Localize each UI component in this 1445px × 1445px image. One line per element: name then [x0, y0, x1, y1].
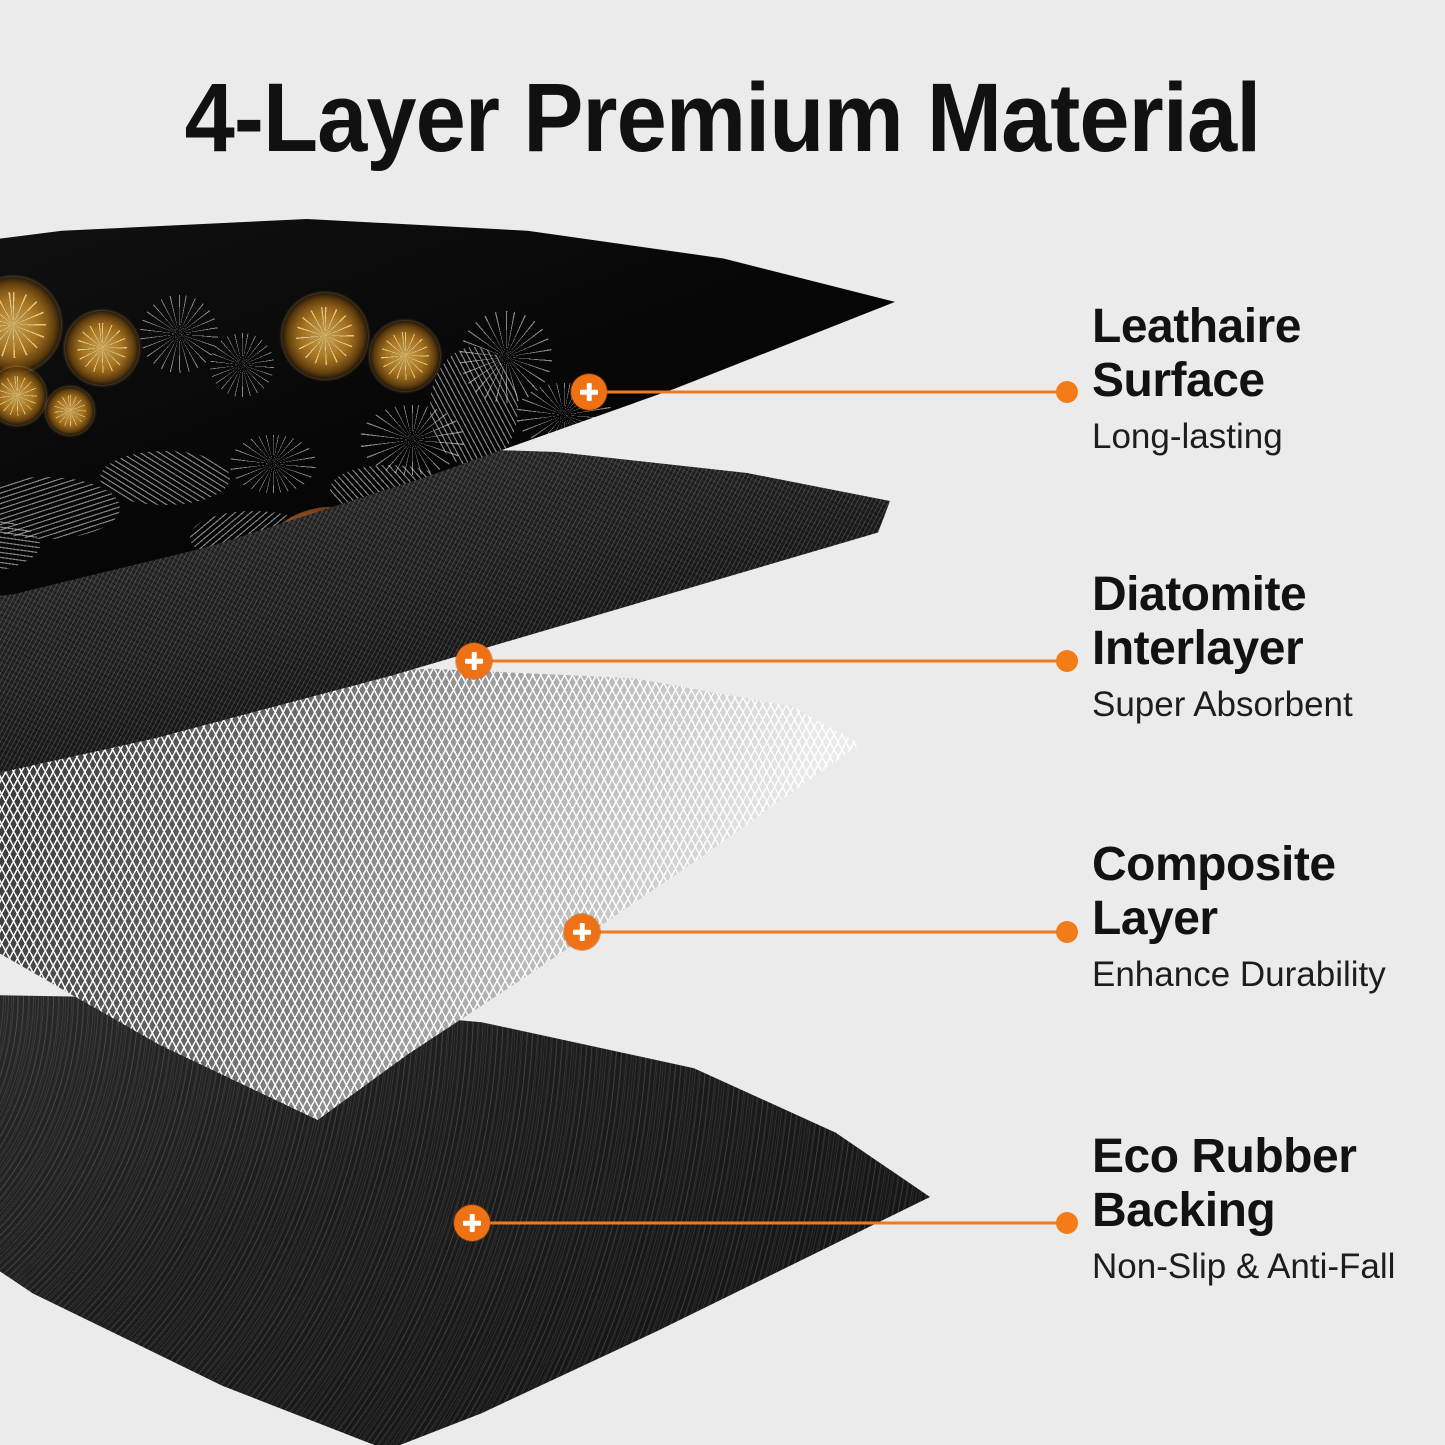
label-title: Composite Layer	[1092, 838, 1437, 946]
label-title-line2: Backing	[1092, 1184, 1275, 1237]
label-title-line2: Interlayer	[1092, 622, 1303, 675]
label-subtitle: Long-lasting	[1092, 416, 1437, 458]
label-subtitle: Enhance Durability	[1092, 954, 1437, 996]
label-title: Diatomite Interlayer	[1092, 568, 1437, 676]
label-composite-layer: Composite Layer Enhance Durability	[1092, 838, 1437, 996]
label-title: Leathaire Surface	[1092, 300, 1437, 408]
label-diatomite-interlayer: Diatomite Interlayer Super Absorbent	[1092, 568, 1437, 726]
label-leathaire-surface: Leathaire Surface Long-lasting	[1092, 300, 1437, 458]
label-title-line1: Diatomite	[1092, 568, 1306, 621]
label-title: Eco Rubber Backing	[1092, 1130, 1437, 1238]
layer-eco-rubber-backing	[0, 990, 930, 1445]
label-title-line2: Layer	[1092, 892, 1218, 945]
label-subtitle: Non-Slip & Anti-Fall	[1092, 1246, 1437, 1288]
label-title-line1: Eco Rubber	[1092, 1130, 1356, 1183]
label-subtitle: Super Absorbent	[1092, 684, 1437, 726]
label-title-line2: Surface	[1092, 354, 1265, 407]
label-title-line1: Leathaire	[1092, 300, 1301, 353]
product-infographic: 4-Layer Premium Material	[0, 0, 1445, 1445]
label-eco-rubber-backing: Eco Rubber Backing Non-Slip & Anti-Fall	[1092, 1130, 1437, 1288]
label-title-line1: Composite	[1092, 838, 1336, 891]
